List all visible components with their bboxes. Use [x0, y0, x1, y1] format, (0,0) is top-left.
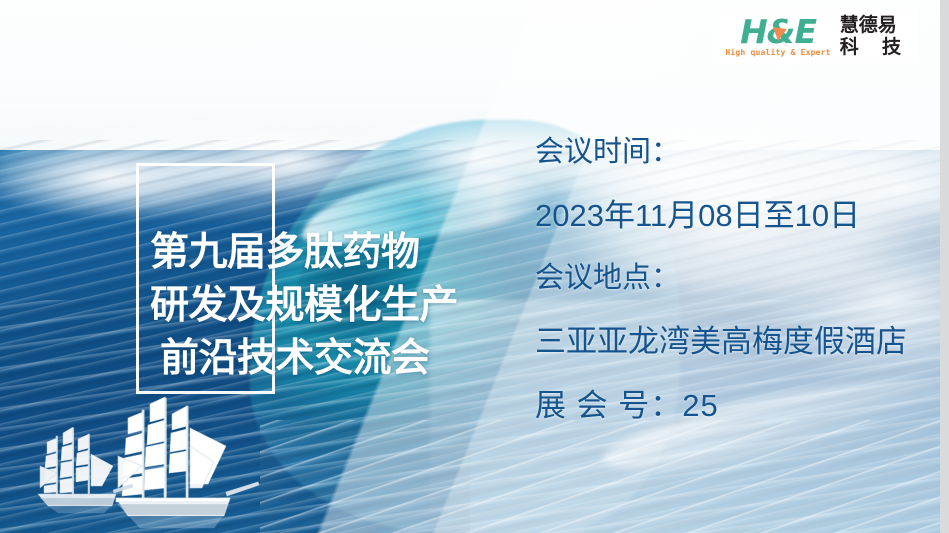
booth-number: 展 会 号：25	[535, 390, 907, 421]
meeting-time-value: 2023年11月08日至10日	[535, 200, 907, 231]
logo-cn-line-2: 科 技	[840, 37, 910, 59]
page-title: 第九届多肽药物 研发及规模化生产 前沿技术交流会	[150, 226, 458, 385]
sailing-ship-small	[28, 418, 136, 514]
logo-mark-he: H&E	[740, 17, 816, 47]
logo-latin-group: H&E High quality & Expert	[725, 17, 830, 58]
title-line-2: 研发及规模化生产	[150, 279, 458, 332]
event-info-block: 会议时间： 2023年11月08日至10日 会议地点： 三亚亚龙湾美高梅度假酒店…	[535, 138, 907, 421]
conference-poster: 第九届多肽药物 研发及规模化生产 前沿技术交流会 会议时间： 2023年11月0…	[0, 0, 949, 533]
logo-chinese-name: 慧德易 科 技	[840, 15, 910, 59]
logo-cn-line-1: 慧德易	[840, 15, 910, 37]
company-logo: H&E High quality & Expert 慧德易 科 技	[715, 10, 918, 63]
meeting-time-label: 会议时间：	[535, 138, 907, 167]
triangle-accent-icon	[771, 27, 787, 42]
meeting-venue-value: 三亚亚龙湾美高梅度假酒店	[535, 326, 907, 357]
meeting-venue-label: 会议地点：	[535, 264, 907, 293]
title-line-3: 前沿技术交流会	[150, 332, 458, 385]
title-line-1: 第九届多肽药物	[150, 226, 458, 279]
